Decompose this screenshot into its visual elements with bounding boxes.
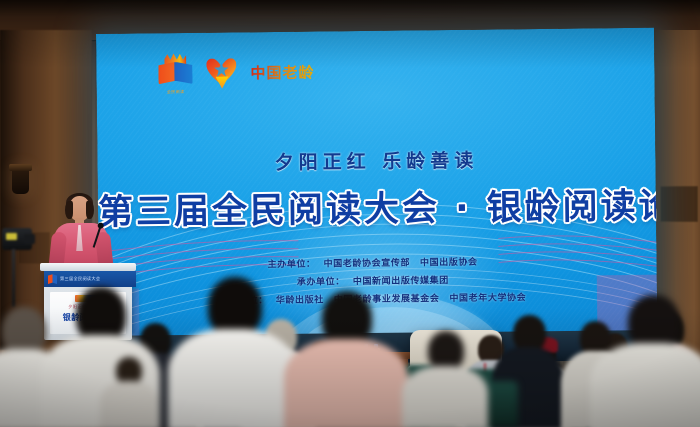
conference-photo: 全民阅读 中国老龄 夕阳正红 乐龄善读 第三届全民阅读大会 · 银龄阅读论坛 主…	[0, 0, 700, 427]
wall-decor-panel	[660, 186, 698, 222]
wall-sconce-icon	[12, 168, 29, 194]
audience	[0, 237, 700, 427]
